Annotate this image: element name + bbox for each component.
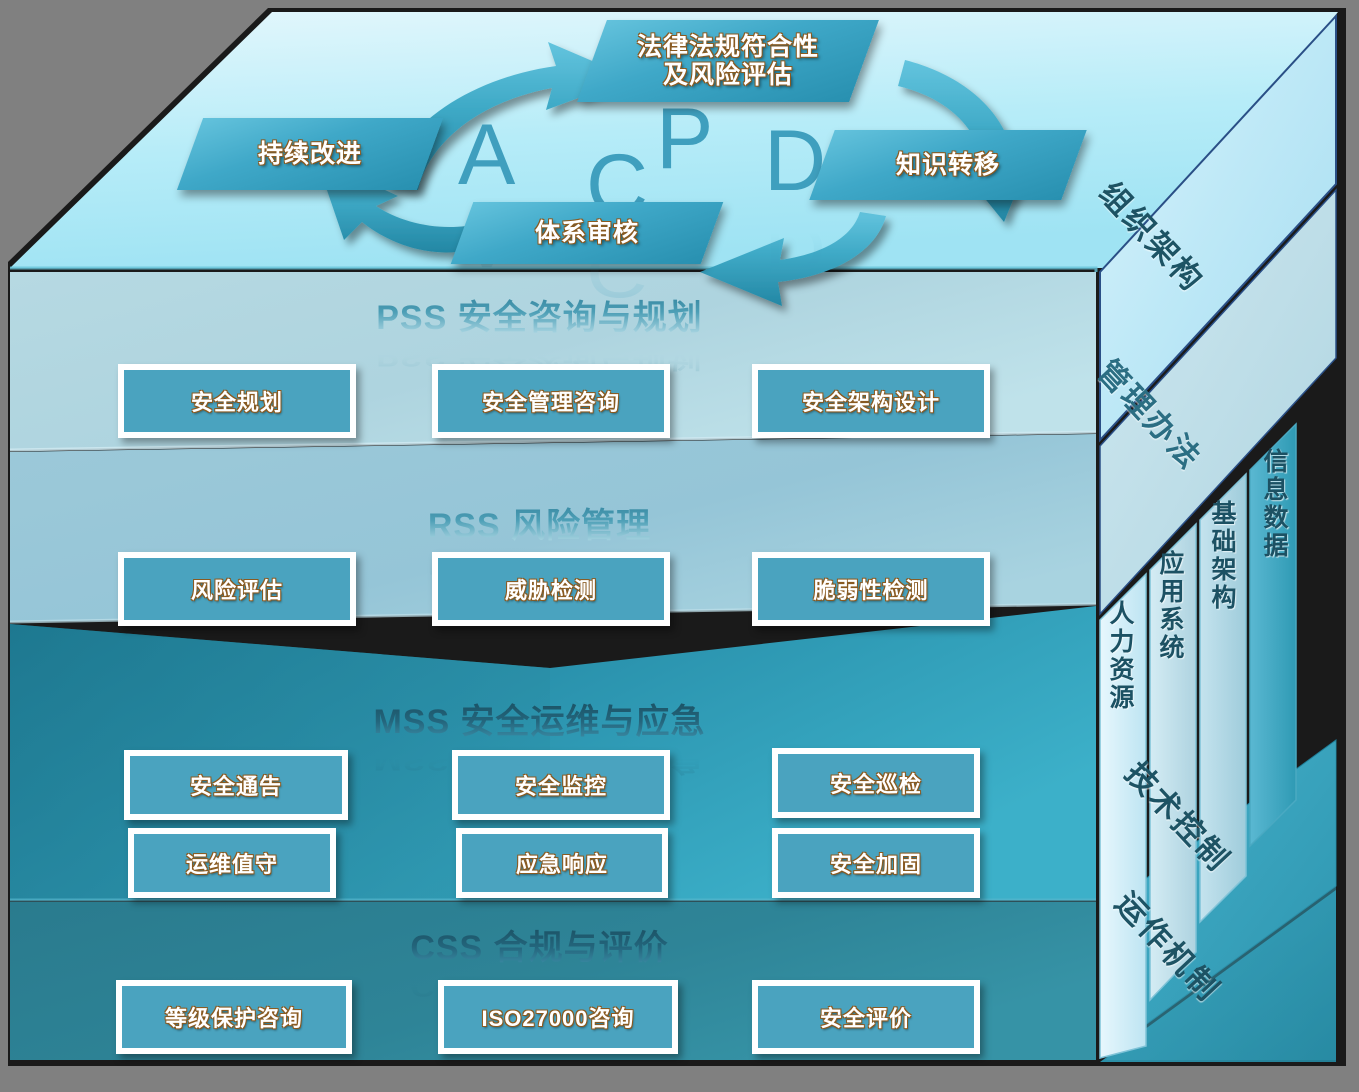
service-box-css-3[interactable]: 安全评价 [752, 980, 980, 1054]
pdca-node-plan[interactable]: 法律法规符合性及风险评估 [577, 20, 879, 102]
service-box-mss-5[interactable]: 应急响应 [456, 828, 668, 898]
pdca-node-do[interactable]: 知识转移 [809, 130, 1086, 200]
service-box-pss-3[interactable]: 安全架构设计 [752, 364, 990, 438]
service-box-pss-2[interactable]: 安全管理咨询 [432, 364, 670, 438]
pdca-node-act[interactable]: 持续改进 [177, 118, 443, 190]
side-column-label-infra: 基础架构 [1204, 500, 1240, 612]
service-box-css-2[interactable]: ISO27000咨询 [438, 980, 678, 1054]
service-box-rss-2[interactable]: 威胁检测 [432, 552, 670, 626]
service-box-pss-1[interactable]: 安全规划 [118, 364, 356, 438]
pdca-letter-d: D D [764, 118, 826, 290]
side-column-label-app: 应用系统 [1152, 550, 1188, 662]
service-box-mss-1[interactable]: 安全通告 [124, 750, 348, 820]
service-box-mss-6[interactable]: 安全加固 [772, 828, 980, 898]
service-box-mss-2[interactable]: 安全监控 [452, 750, 670, 820]
diagram-canvas: P P D D C C A A 法律法规符合性及风险评估 知识转移 体系审核 持… [0, 0, 1359, 1092]
service-box-rss-1[interactable]: 风险评估 [118, 552, 356, 626]
side-column-label-data: 信息数据 [1256, 448, 1292, 560]
service-box-mss-3[interactable]: 安全巡检 [772, 748, 980, 818]
service-box-rss-3[interactable]: 脆弱性检测 [752, 552, 990, 626]
service-box-mss-4[interactable]: 运维值守 [128, 828, 336, 898]
pdca-node-check[interactable]: 体系审核 [451, 202, 724, 264]
side-column-label-hr: 人力资源 [1102, 600, 1138, 712]
service-box-css-1[interactable]: 等级保护咨询 [116, 980, 352, 1054]
